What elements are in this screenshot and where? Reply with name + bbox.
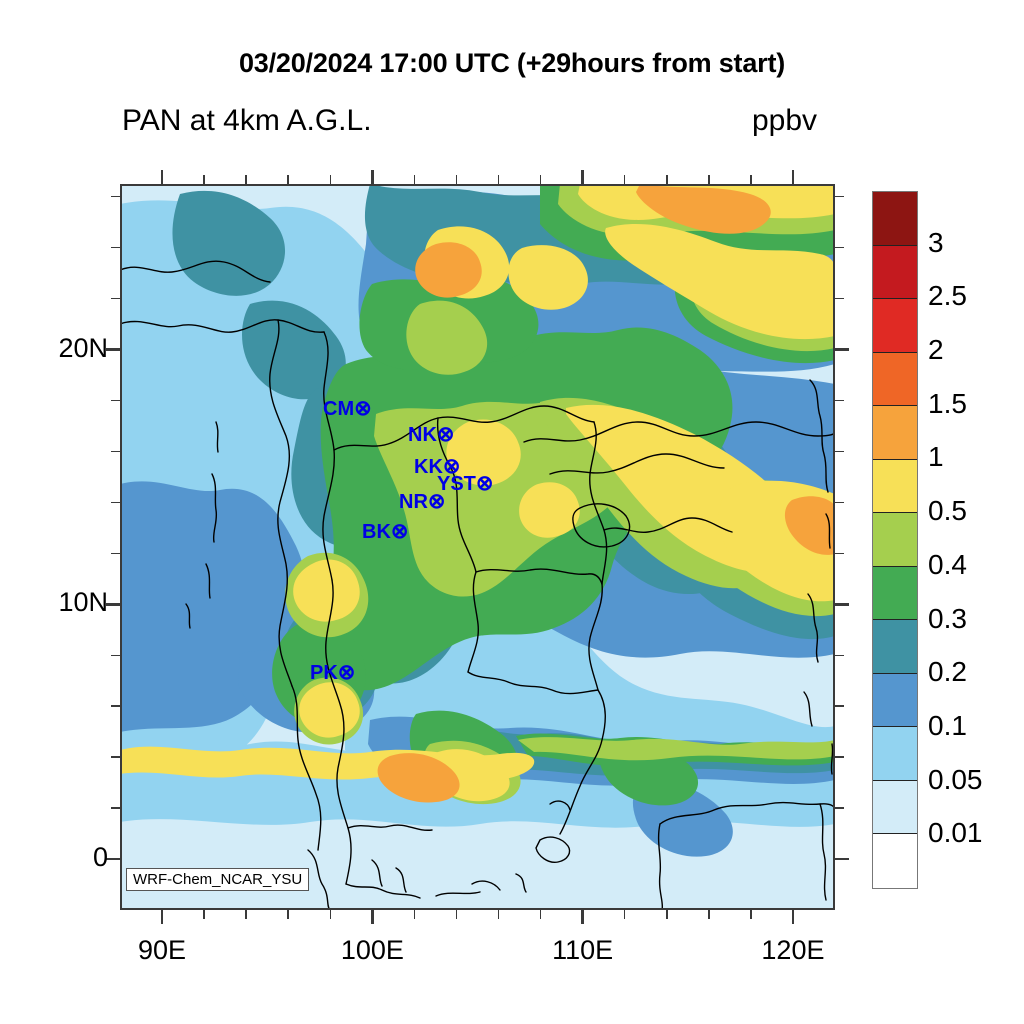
pan-concentration-map: 03/20/2024 17:00 UTC (+29hours from star… bbox=[0, 0, 1024, 1024]
y-tick-4 bbox=[111, 756, 120, 758]
colorbar-label-1: 1 bbox=[928, 441, 944, 473]
x-tick-top-100 bbox=[371, 170, 374, 184]
x-tick-top-90 bbox=[161, 170, 164, 184]
crossed-circle-icon: ⊗ bbox=[391, 520, 409, 543]
colorbar-label-0.4: 0.4 bbox=[928, 549, 967, 581]
x-tick-top-108 bbox=[540, 175, 542, 184]
page-title: 03/20/2024 17:00 UTC (+29hours from star… bbox=[0, 48, 1024, 79]
map-plot-area bbox=[120, 184, 835, 910]
x-tick-top-96 bbox=[287, 175, 289, 184]
colorbar-band-3 bbox=[873, 353, 917, 407]
y-tick-10 bbox=[106, 603, 120, 606]
y-tick-right-22 bbox=[835, 298, 844, 300]
model-watermark: WRF-Chem_NCAR_YSU bbox=[126, 868, 309, 891]
plot-subtitle: PAN at 4km A.G.L. bbox=[122, 104, 372, 138]
x-tick-top-112 bbox=[624, 175, 626, 184]
station-nk: NK⊗ bbox=[408, 424, 455, 445]
station-nr: NR⊗ bbox=[399, 491, 446, 512]
crossed-circle-icon: ⊗ bbox=[354, 397, 372, 420]
colorbar-label-0.05: 0.05 bbox=[928, 764, 983, 796]
y-tick-right-12 bbox=[835, 553, 844, 555]
x-tick-110 bbox=[581, 910, 584, 924]
station-pk: PK⊗ bbox=[310, 662, 355, 683]
crossed-circle-icon: ⊗ bbox=[338, 661, 356, 684]
colorbar-label-0.1: 0.1 bbox=[928, 710, 967, 742]
colorbar-label-2: 2 bbox=[928, 334, 944, 366]
x-tick-94 bbox=[245, 910, 247, 919]
y-axis-label-10N: 10N bbox=[0, 587, 108, 618]
x-tick-98 bbox=[330, 910, 332, 919]
x-tick-100 bbox=[371, 910, 374, 924]
colorbar-band-6 bbox=[873, 513, 917, 567]
x-tick-top-106 bbox=[498, 175, 500, 184]
y-tick-right-2 bbox=[835, 807, 844, 809]
colorbar-label-0.5: 0.5 bbox=[928, 495, 967, 527]
y-tick-2 bbox=[111, 807, 120, 809]
colorbar-band-8 bbox=[873, 620, 917, 674]
x-tick-top-92 bbox=[203, 175, 205, 184]
colorbar-label-1.5: 1.5 bbox=[928, 388, 967, 420]
x-tick-96 bbox=[287, 910, 289, 919]
x-tick-top-94 bbox=[245, 175, 247, 184]
y-tick-14 bbox=[111, 502, 120, 504]
x-tick-116 bbox=[708, 910, 710, 919]
station-bk: BK⊗ bbox=[362, 521, 409, 542]
y-tick-right-16 bbox=[835, 451, 844, 453]
y-tick-right-0 bbox=[835, 858, 849, 861]
colorbar-label-0.3: 0.3 bbox=[928, 603, 967, 635]
y-tick-20 bbox=[106, 348, 120, 351]
y-axis-label-0: 0 bbox=[0, 842, 108, 873]
y-tick-12 bbox=[111, 553, 120, 555]
colorbar bbox=[872, 191, 918, 889]
colorbar-band-12 bbox=[873, 834, 917, 888]
x-axis-label-100E: 100E bbox=[312, 935, 432, 966]
y-tick-22 bbox=[111, 298, 120, 300]
x-tick-top-104 bbox=[456, 175, 458, 184]
y-tick-right-18 bbox=[835, 400, 844, 402]
x-tick-106 bbox=[498, 910, 500, 919]
station-code-label: CM bbox=[323, 398, 354, 420]
x-tick-90 bbox=[161, 910, 164, 924]
x-tick-top-110 bbox=[581, 170, 584, 184]
y-tick-right-10 bbox=[835, 603, 849, 606]
y-tick-26 bbox=[111, 196, 120, 198]
y-tick-0 bbox=[106, 858, 120, 861]
y-tick-24 bbox=[111, 247, 120, 249]
x-tick-92 bbox=[203, 910, 205, 919]
contour-field bbox=[120, 184, 835, 910]
y-axis-label-20N: 20N bbox=[0, 333, 108, 364]
colorbar-band-0 bbox=[873, 192, 917, 246]
x-axis-label-120E: 120E bbox=[733, 935, 853, 966]
station-code-label: PK bbox=[310, 662, 338, 684]
colorbar-band-5 bbox=[873, 460, 917, 514]
colorbar-band-9 bbox=[873, 674, 917, 728]
y-tick-right-20 bbox=[835, 348, 849, 351]
x-tick-120 bbox=[792, 910, 795, 924]
y-tick-8 bbox=[111, 655, 120, 657]
x-tick-top-116 bbox=[708, 175, 710, 184]
colorbar-band-10 bbox=[873, 727, 917, 781]
crossed-circle-icon: ⊗ bbox=[437, 423, 455, 446]
x-tick-114 bbox=[666, 910, 668, 919]
station-code-label: NK bbox=[408, 424, 437, 446]
colorbar-label-2.5: 2.5 bbox=[928, 280, 967, 312]
crossed-circle-icon: ⊗ bbox=[428, 490, 446, 513]
y-tick-right-14 bbox=[835, 502, 844, 504]
colorbar-band-2 bbox=[873, 299, 917, 353]
station-cm: CM⊗ bbox=[323, 398, 372, 419]
x-tick-102 bbox=[414, 910, 416, 919]
y-tick-6 bbox=[111, 705, 120, 707]
y-tick-right-6 bbox=[835, 705, 844, 707]
x-axis-label-110E: 110E bbox=[523, 935, 643, 966]
x-tick-112 bbox=[624, 910, 626, 919]
x-axis-label-90E: 90E bbox=[102, 935, 222, 966]
y-tick-right-24 bbox=[835, 247, 844, 249]
x-tick-118 bbox=[750, 910, 752, 919]
x-tick-top-114 bbox=[666, 175, 668, 184]
station-code-label: NR bbox=[399, 491, 428, 513]
units-label: ppbv bbox=[752, 104, 817, 138]
station-code-label: BK bbox=[362, 521, 391, 543]
colorbar-label-3: 3 bbox=[928, 227, 944, 259]
x-tick-104 bbox=[456, 910, 458, 919]
crossed-circle-icon: ⊗ bbox=[476, 472, 494, 495]
colorbar-band-1 bbox=[873, 246, 917, 300]
x-tick-top-120 bbox=[792, 170, 795, 184]
y-tick-16 bbox=[111, 451, 120, 453]
x-tick-top-118 bbox=[750, 175, 752, 184]
colorbar-band-4 bbox=[873, 406, 917, 460]
x-tick-108 bbox=[540, 910, 542, 919]
y-tick-right-26 bbox=[835, 196, 844, 198]
x-tick-top-102 bbox=[414, 175, 416, 184]
colorbar-label-0.2: 0.2 bbox=[928, 656, 967, 688]
colorbar-label-0.01: 0.01 bbox=[928, 817, 983, 849]
colorbar-band-7 bbox=[873, 567, 917, 621]
colorbar-band-11 bbox=[873, 781, 917, 835]
y-tick-right-8 bbox=[835, 655, 844, 657]
x-tick-top-98 bbox=[330, 175, 332, 184]
y-tick-right-4 bbox=[835, 756, 844, 758]
y-tick-18 bbox=[111, 400, 120, 402]
